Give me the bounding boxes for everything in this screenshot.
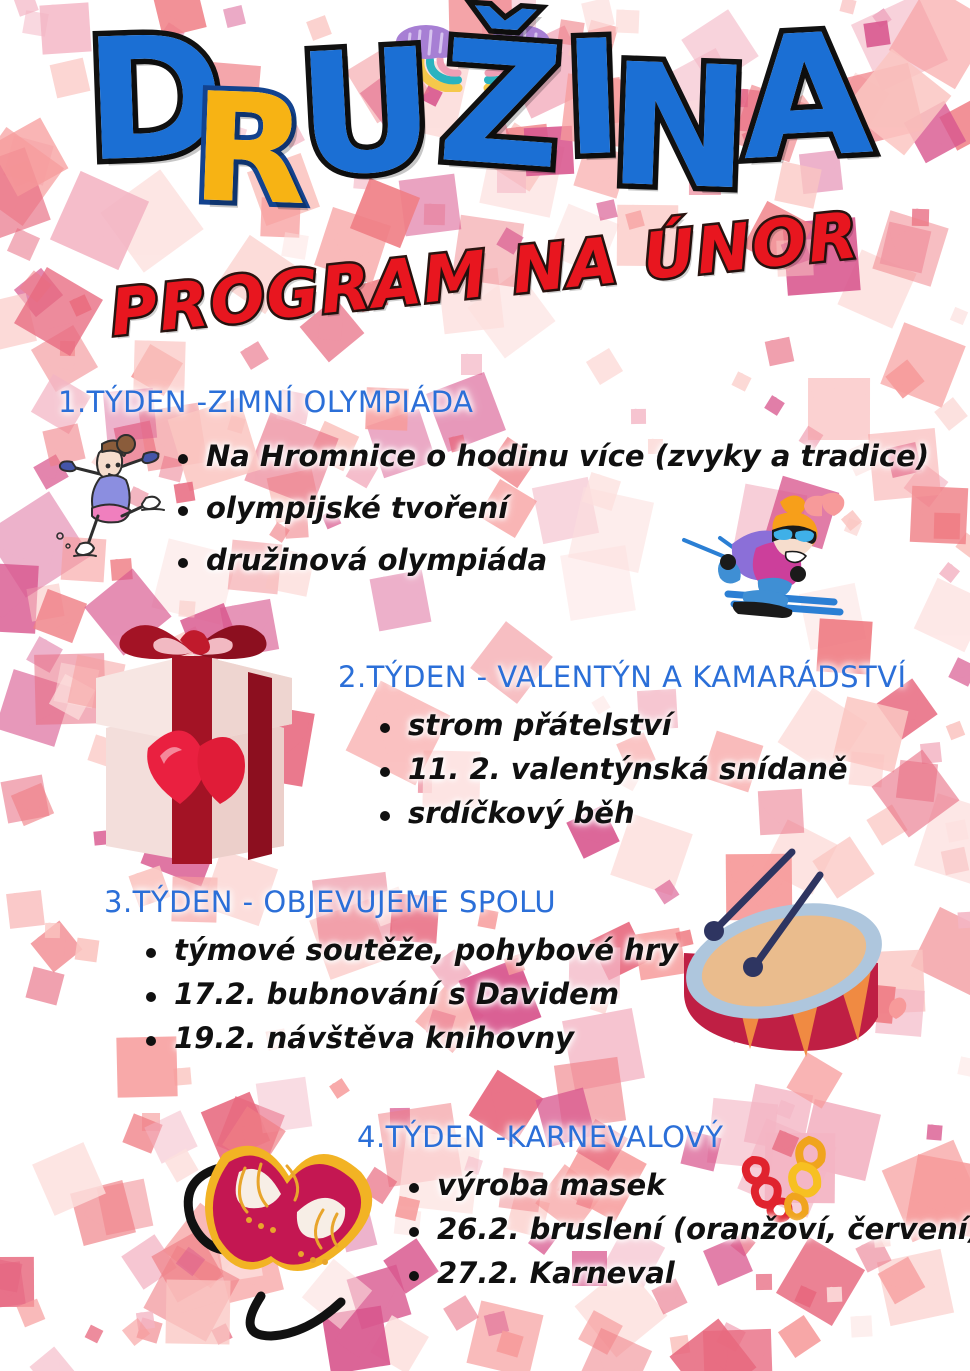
week-4-list: výroba masek 26.2. bruslení (oranžoví, č… [407, 1168, 970, 1290]
list-item: družinová olympiáda [176, 543, 929, 577]
week-section-4: 4.TÝDEN -KARNEVALOVÝ výroba masek 26.2. … [357, 1120, 970, 1290]
list-item: Na Hromnice o hodinu více (zvyky a tradi… [176, 439, 929, 473]
list-item: týmové soutěže, pohybové hry [144, 933, 678, 967]
list-item: 11. 2. valentýnská snídaně [378, 752, 907, 786]
logo-letter-n: N [606, 46, 746, 210]
list-item: 17.2. bubnování s Davidem [144, 977, 678, 1011]
list-item: 27.2. Karneval [407, 1256, 970, 1290]
gift-box-with-heart-illustration [88, 616, 300, 864]
list-item: srdíčkový běh [378, 796, 907, 830]
week-3-title: 3.TÝDEN - OBJEVUJEME SPOLU [104, 885, 678, 919]
week-4-title: 4.TÝDEN -KARNEVALOVÝ [357, 1120, 970, 1154]
week-2-title: 2.TÝDEN - VALENTÝN A KAMARÁDSTVÍ [338, 660, 907, 694]
week-section-2: 2.TÝDEN - VALENTÝN A KAMARÁDSTVÍ strom p… [338, 660, 907, 830]
list-item: olympijské tvoření [176, 491, 929, 525]
list-item: 26.2. bruslení (oranžoví, červení) [407, 1212, 970, 1246]
poster-canvas: DRUŽINA PROGRAM NA ÚNOR [0, 0, 970, 1371]
poster-logo-block: DRUŽINA PROGRAM NA ÚNOR [0, 6, 970, 346]
week-2-list: strom přátelství 11. 2. valentýnská sníd… [378, 708, 907, 830]
week-section-3: 3.TÝDEN - OBJEVUJEME SPOLU týmové soutěž… [104, 885, 678, 1055]
logo-letter-a: A [737, 15, 869, 181]
list-item: výroba masek [407, 1168, 970, 1202]
week-section-1: 1.TÝDEN -ZIMNÍ OLYMPIÁDA Na Hromnice o h… [58, 385, 929, 577]
logo-letter-r: R [190, 77, 304, 223]
logo-letter-z: Ž [435, 22, 562, 189]
list-item: strom přátelství [378, 708, 907, 742]
logo-letter-u: U [294, 31, 433, 197]
week-3-list: týmové soutěže, pohybové hry 17.2. bubno… [144, 933, 678, 1055]
poster-subtitle: PROGRAM NA ÚNOR [0, 188, 970, 363]
week-1-title: 1.TÝDEN -ZIMNÍ OLYMPIÁDA [58, 385, 929, 419]
list-item: 19.2. návštěva knihovny [144, 1021, 678, 1055]
week-1-list: Na Hromnice o hodinu více (zvyky a tradi… [176, 439, 929, 577]
logo-wordmark: DRUŽINA [0, 20, 970, 180]
drum-with-drumsticks-illustration [668, 845, 908, 1060]
